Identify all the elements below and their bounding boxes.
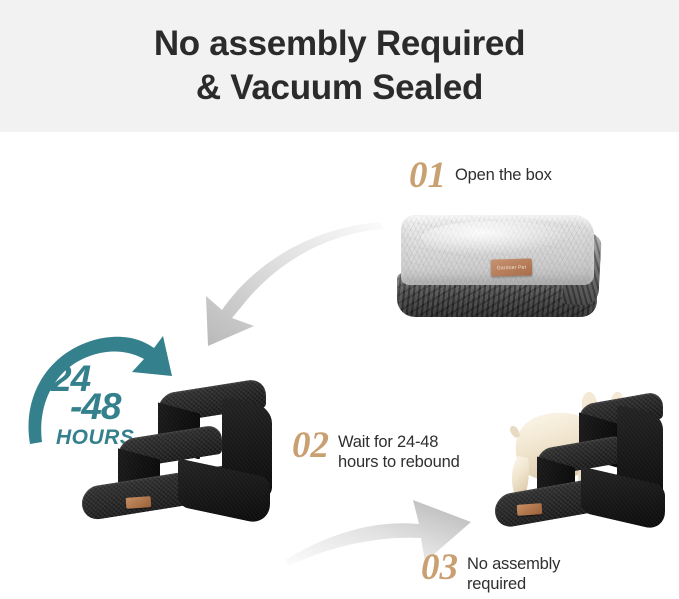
package-top-wrap: Gardner Pet bbox=[401, 215, 594, 285]
step-01-number: 01 bbox=[409, 158, 446, 194]
page-title-line-2: & Vacuum Sealed bbox=[196, 66, 483, 110]
step-03-text: No assembly required bbox=[467, 550, 560, 594]
step-02-number: 02 bbox=[292, 428, 329, 464]
step-03-caption: 03 No assembly required bbox=[421, 550, 560, 594]
step-02-caption: 02 Wait for 24-48 hours to rebound bbox=[292, 428, 460, 472]
stairs-right-logo-tag bbox=[517, 503, 543, 516]
page-title-line-1: No assembly Required bbox=[154, 22, 525, 66]
step-02-text: Wait for 24-48 hours to rebound bbox=[338, 428, 460, 472]
package-sheen bbox=[421, 221, 571, 255]
vacuum-sealed-package: Gardner Pet bbox=[395, 215, 600, 320]
stairs-left-logo-tag bbox=[126, 496, 152, 509]
step-01-caption: 01 Open the box bbox=[409, 158, 552, 194]
arrow-package-to-stairs-icon bbox=[170, 222, 385, 347]
header-banner: No assembly Required & Vacuum Sealed bbox=[0, 0, 679, 132]
pet-stairs-right bbox=[495, 394, 679, 549]
package-brand-label-text: Gardner Pet bbox=[497, 264, 527, 271]
step-03-number: 03 bbox=[421, 550, 458, 586]
pet-stairs-left bbox=[82, 384, 307, 544]
infographic-stage: 01 Open the box Gardner Pet bbox=[0, 132, 679, 599]
package-brand-label: Gardner Pet bbox=[491, 258, 532, 276]
step-01-text: Open the box bbox=[455, 158, 552, 185]
